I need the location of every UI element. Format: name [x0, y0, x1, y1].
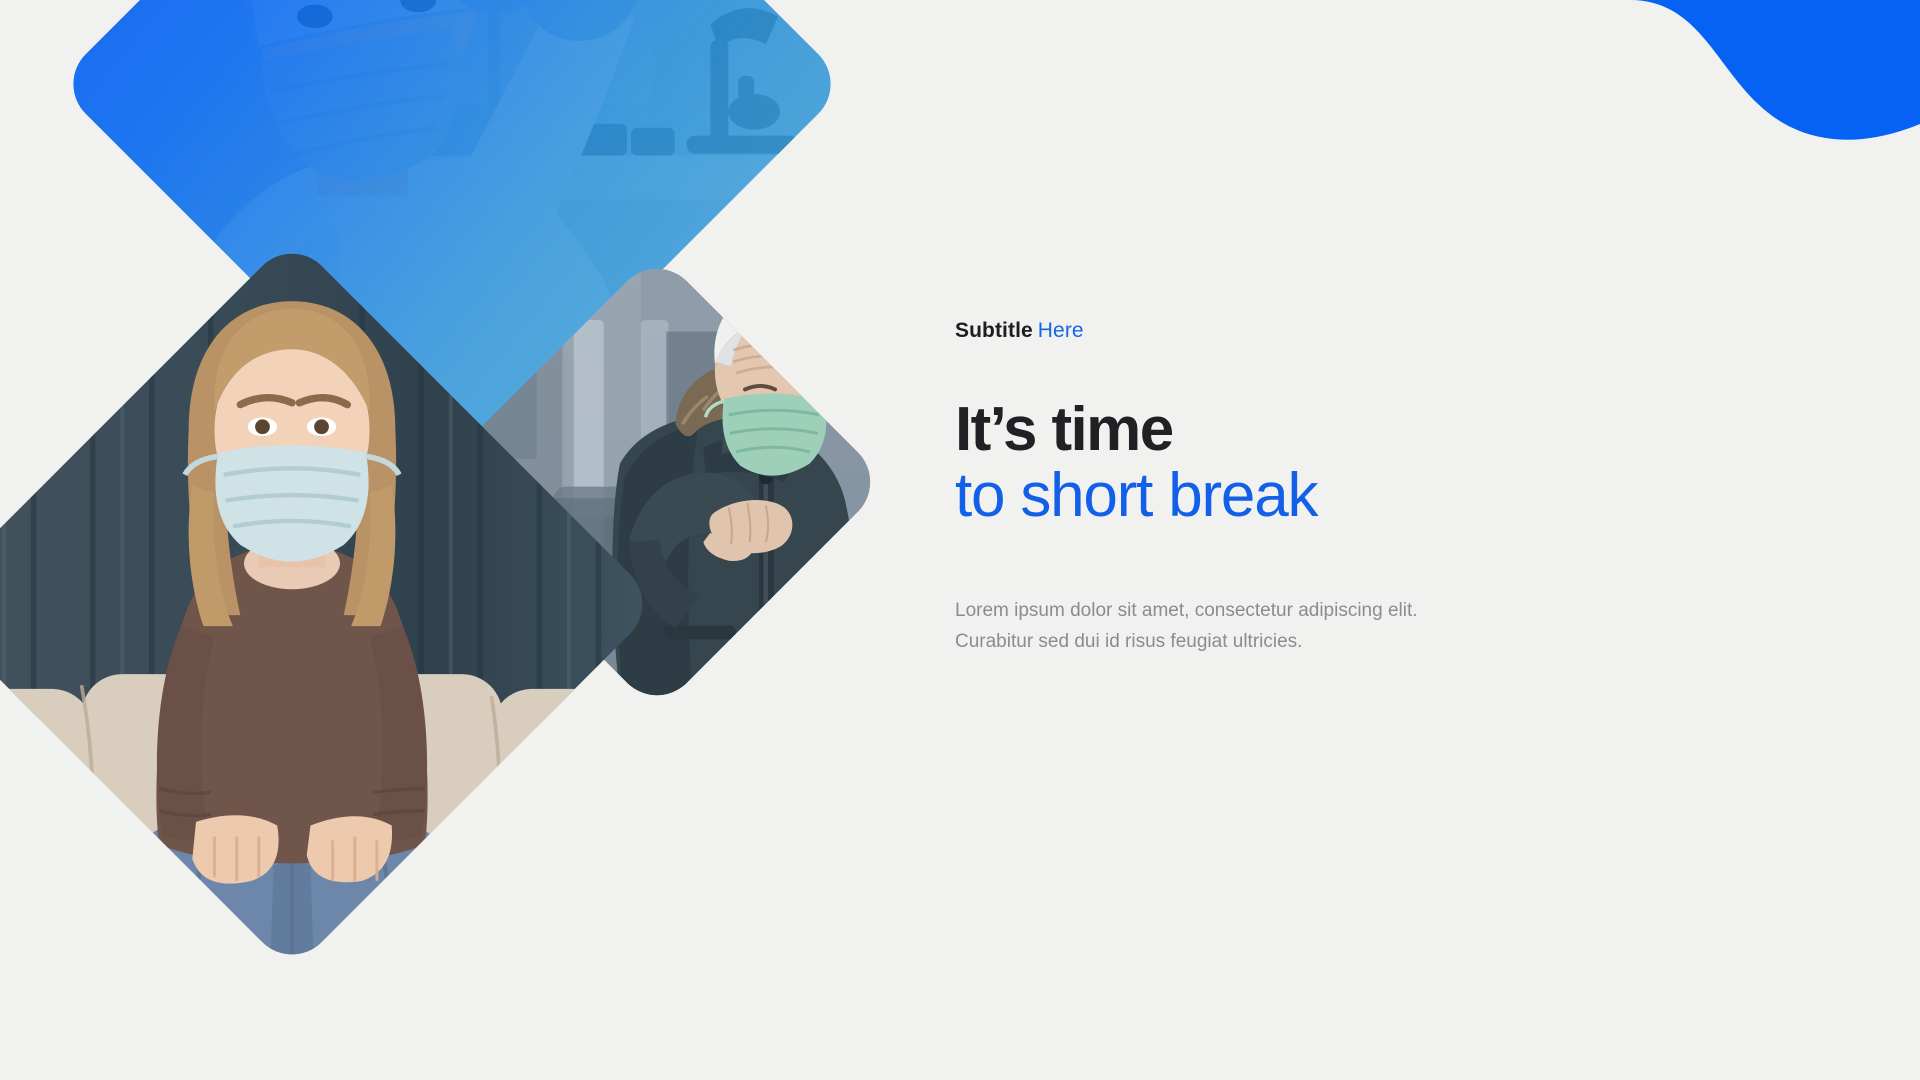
headline-line-1: It’s time — [955, 398, 1515, 461]
presentation-slide: SubtitleHere It’s time to short break Lo… — [0, 0, 1920, 1080]
text-content-column: SubtitleHere It’s time to short break Lo… — [955, 318, 1515, 658]
subtitle-accent: Here — [1038, 319, 1084, 342]
diamond-photo-collage — [0, 0, 1010, 1080]
blue-wave-shape — [1500, 0, 1920, 200]
body-paragraph: Lorem ipsum dolor sit amet, consectetur … — [955, 596, 1467, 658]
headline-line-2: to short break — [955, 461, 1515, 532]
page-title: It’s time to short break — [955, 398, 1515, 532]
subtitle-strong: Subtitle — [955, 319, 1033, 342]
subtitle: SubtitleHere — [955, 318, 1515, 343]
